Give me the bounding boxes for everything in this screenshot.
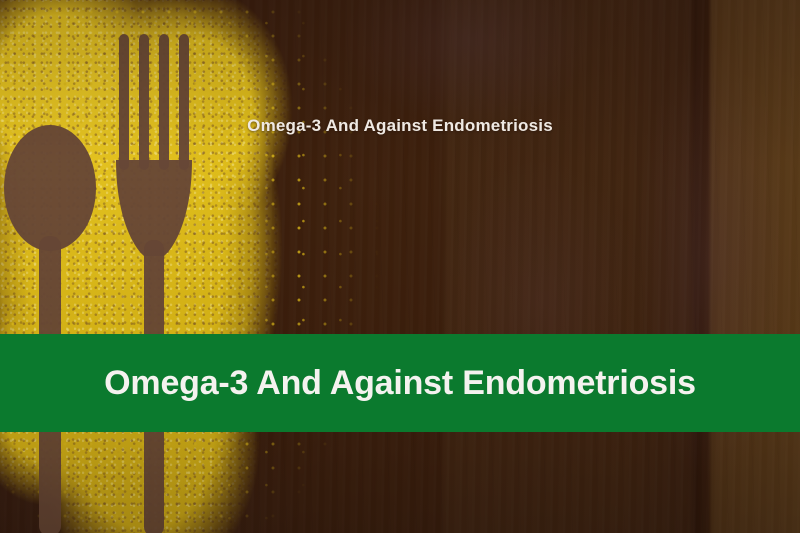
article-header-banner: Omega-3 And Against Endometriosis Omega-…: [0, 0, 800, 533]
banner-page-title: Omega-3 And Against Endometriosis: [104, 366, 696, 400]
green-title-banner: Omega-3 And Against Endometriosis: [0, 334, 800, 432]
background-photo: [0, 0, 800, 533]
overlay-page-title: Omega-3 And Against Endometriosis: [0, 116, 800, 136]
photo-vignette: [0, 0, 800, 533]
